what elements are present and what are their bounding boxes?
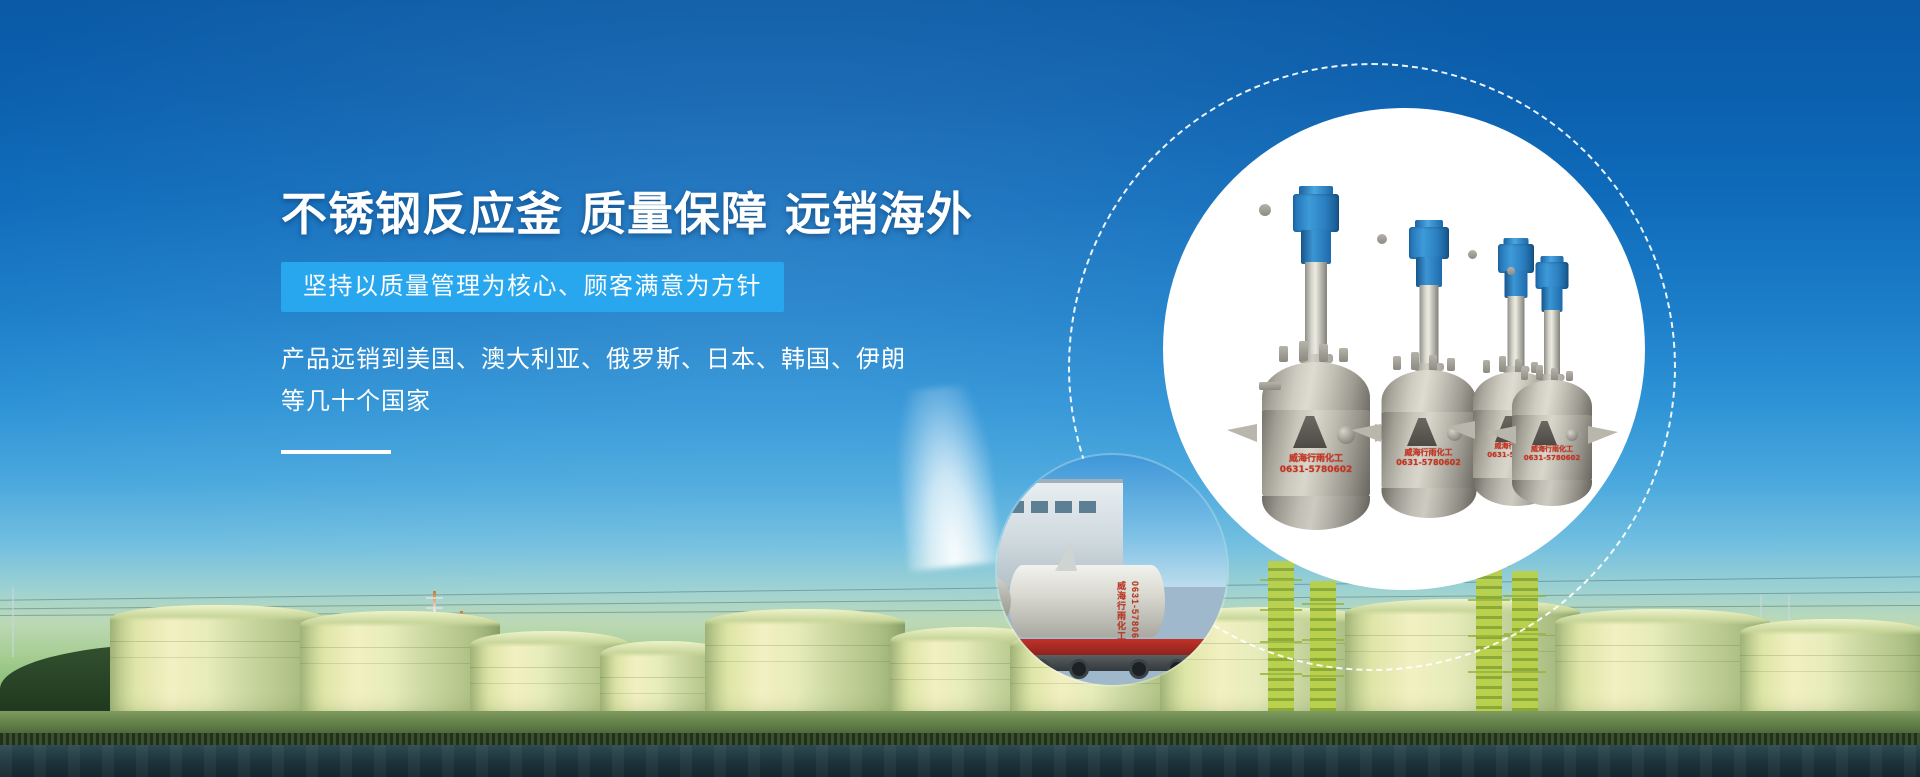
reactor-brand-text: 威海行雨化工: [1531, 445, 1573, 453]
warehouse-window: [1079, 501, 1096, 513]
product-photo-circle: 威海行雨化工 0631-5780602 威海行雨化工: [1163, 108, 1645, 590]
utility-pole: [12, 587, 14, 657]
truck-wheel: [1069, 659, 1089, 679]
truck-wheel: [1129, 659, 1149, 679]
truck-wheel: [1167, 659, 1187, 679]
scaffold-column: [1268, 561, 1294, 711]
scaffold-column: [1512, 571, 1538, 711]
storage-tank: [705, 609, 905, 727]
storage-tank: [1345, 599, 1580, 727]
reactor-vessel: 威海行雨化工 0631-5780602: [1503, 256, 1601, 514]
storage-tank: [110, 605, 325, 727]
truck-vessel-label: 威海行雨化工: [1115, 581, 1127, 641]
banner-subtitle-text: 坚持以质量管理为核心、顾客满意为方针: [303, 272, 762, 300]
banner-divider: [281, 450, 391, 454]
warehouse-window: [1007, 501, 1024, 513]
warehouse-window: [1031, 501, 1048, 513]
reactor-phone-text: 0631-5780602: [1280, 465, 1353, 475]
storage-tank: [1555, 609, 1770, 727]
water-shimmer: [0, 745, 1920, 777]
warehouse-window: [1055, 501, 1072, 513]
reactor-brand-text: 威海行雨化工: [1289, 454, 1343, 464]
hero-banner: 威海行雨化工 0631-5780602 威海行雨化工: [0, 0, 1920, 777]
reactor-vessel: 威海行雨化工 0631-5780602: [1251, 186, 1381, 526]
scaffold-column: [1310, 581, 1336, 711]
banner-description: 产品远销到美国、澳大利亚、俄罗斯、日本、韩国、伊朗等几十个国家: [281, 338, 921, 422]
banner-subtitle-box: 坚持以质量管理为核心、顾客满意为方针: [281, 262, 784, 312]
vessel-support-fin: [1055, 543, 1077, 571]
pressure-vessel-horizontal: [1009, 565, 1165, 637]
truck-wheel: [1031, 659, 1051, 679]
power-wire: [0, 576, 1920, 600]
reactor-phone-text: 0631-5780602: [1524, 454, 1580, 462]
reactor-brand-text: 威海行雨化工: [1405, 448, 1453, 457]
truck-brand-text: 威海行雨化工: [1116, 581, 1126, 641]
reactor-phone-text: 0631-5780602: [1396, 458, 1461, 467]
banner-text-block: 不锈钢反应釜 质量保障 远销海外 坚持以质量管理为核心、顾客满意为方针 产品远销…: [281, 190, 1001, 454]
truck-bed: [997, 639, 1217, 655]
truck-photo-circle: 威海行雨化工 0631-5780602: [997, 455, 1227, 685]
banner-headline: 不锈钢反应釜 质量保障 远销海外: [281, 190, 1001, 238]
